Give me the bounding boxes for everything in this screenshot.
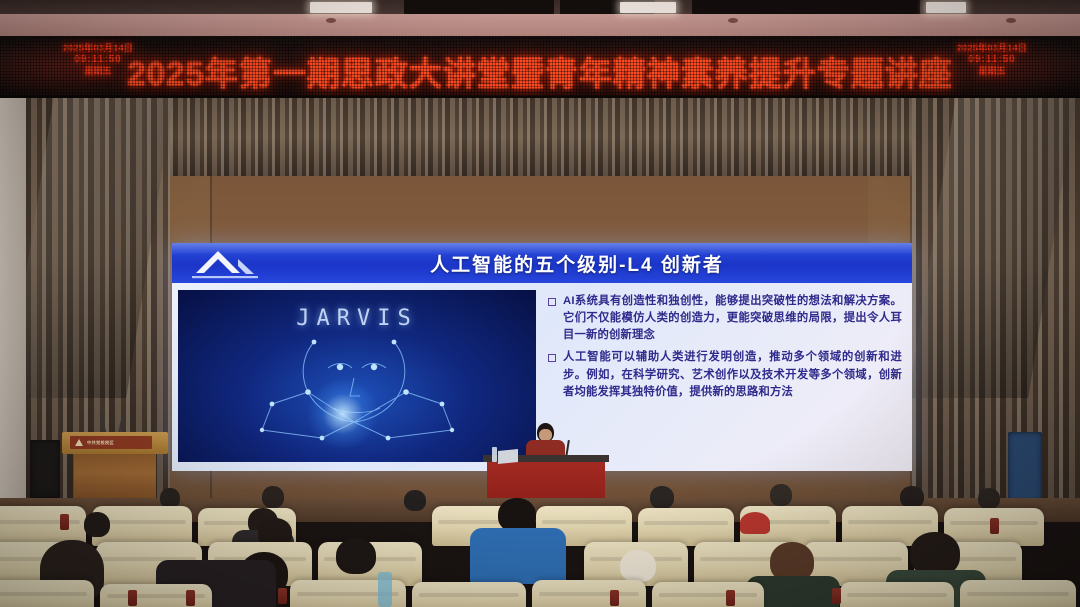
list-item: AI系统具有创造性和独创性，能够提出突破性的想法和解决方案。它们不仅能模仿人类的… — [548, 293, 902, 344]
audience-torso-blue-jacket — [470, 528, 566, 584]
jarvis-caption: JARVIS — [178, 306, 536, 331]
ceiling-fixture — [404, 0, 554, 14]
curtain-right — [912, 98, 1080, 498]
audience-head — [336, 538, 376, 574]
presenter-laptop — [498, 449, 518, 464]
seat-armrest-post — [610, 590, 619, 606]
audience-head — [498, 498, 536, 532]
audience-head — [262, 486, 284, 508]
ceiling-spot — [1006, 18, 1016, 23]
auditorium-seat — [652, 582, 764, 607]
auditorium-seat — [840, 582, 954, 607]
audience-head — [160, 488, 180, 508]
bullet-text: 人工智能可以辅助人类进行发明创造，推动多个领域的创新和进步。例如，在科学研究、艺… — [563, 349, 902, 400]
ceiling-spot — [326, 18, 336, 23]
slide-title: 人工智能的五个级别-L4 创新者 — [172, 250, 912, 277]
auditorium-seat — [100, 584, 212, 607]
ceiling-light — [620, 2, 676, 13]
ceiling-spot — [728, 18, 738, 23]
auditorium-scene: 2025年第一期思政大讲堂暨青年精神素养提升专题讲座 2025年03月14日 0… — [0, 0, 1080, 607]
square-outline-icon — [548, 298, 556, 306]
auditorium-seat — [532, 580, 646, 607]
auditorium-seat — [960, 580, 1076, 607]
seat-armrest-post — [128, 590, 137, 606]
ceiling-light — [310, 2, 372, 13]
ceiling-fixture — [692, 0, 920, 14]
jarvis-ai-graphic: JARVIS — [178, 290, 536, 462]
water-bottle — [492, 447, 497, 462]
auditorium-seat — [638, 508, 734, 546]
seated-audience — [0, 484, 1080, 607]
audience-head-light-coat — [620, 550, 656, 582]
slide-header: 人工智能的五个级别-L4 创新者 — [172, 243, 912, 283]
lectern-plate-text: 中共党校校区 — [87, 440, 114, 446]
seat-armrest-post — [60, 514, 69, 530]
seat-armrest-post — [990, 518, 999, 534]
audience-head — [84, 512, 110, 537]
audience-head — [978, 488, 1000, 509]
lectern-nameplate: 中共党校校区 — [70, 436, 152, 449]
lectern-top: 中共党校校区 — [62, 432, 168, 454]
audience-red-hat — [740, 512, 770, 534]
led-pixel-grid — [0, 36, 1080, 96]
square-outline-icon — [548, 354, 556, 362]
led-banner: 2025年第一期思政大讲堂暨青年精神素养提升专题讲座 2025年03月14日 0… — [0, 36, 1080, 98]
audience-head — [770, 484, 792, 506]
water-bottle — [378, 572, 392, 607]
ceiling — [0, 0, 1080, 36]
seat-armrest-post — [186, 590, 195, 606]
audience-head — [404, 490, 426, 511]
seat-armrest-post — [726, 590, 735, 606]
core-glow — [307, 378, 379, 450]
institution-logo-icon — [74, 438, 84, 447]
audience-head — [650, 486, 674, 509]
seat-armrest-post — [832, 588, 841, 604]
ceiling-light — [926, 2, 966, 13]
seat-armrest-post — [278, 588, 287, 604]
audience-head — [900, 486, 924, 508]
bullet-text: AI系统具有创造性和独创性，能够提出突破性的想法和解决方案。它们不仅能模仿人类的… — [563, 293, 902, 344]
side-wall-column — [0, 98, 26, 498]
list-item: 人工智能可以辅助人类进行发明创造，推动多个领域的创新和进步。例如，在科学研究、艺… — [548, 349, 902, 400]
auditorium-seat — [0, 580, 94, 607]
auditorium-seat — [412, 582, 526, 607]
slide-bullet-list: AI系统具有创造性和独创性，能够提出突破性的想法和解决方案。它们不仅能模仿人类的… — [536, 283, 912, 471]
